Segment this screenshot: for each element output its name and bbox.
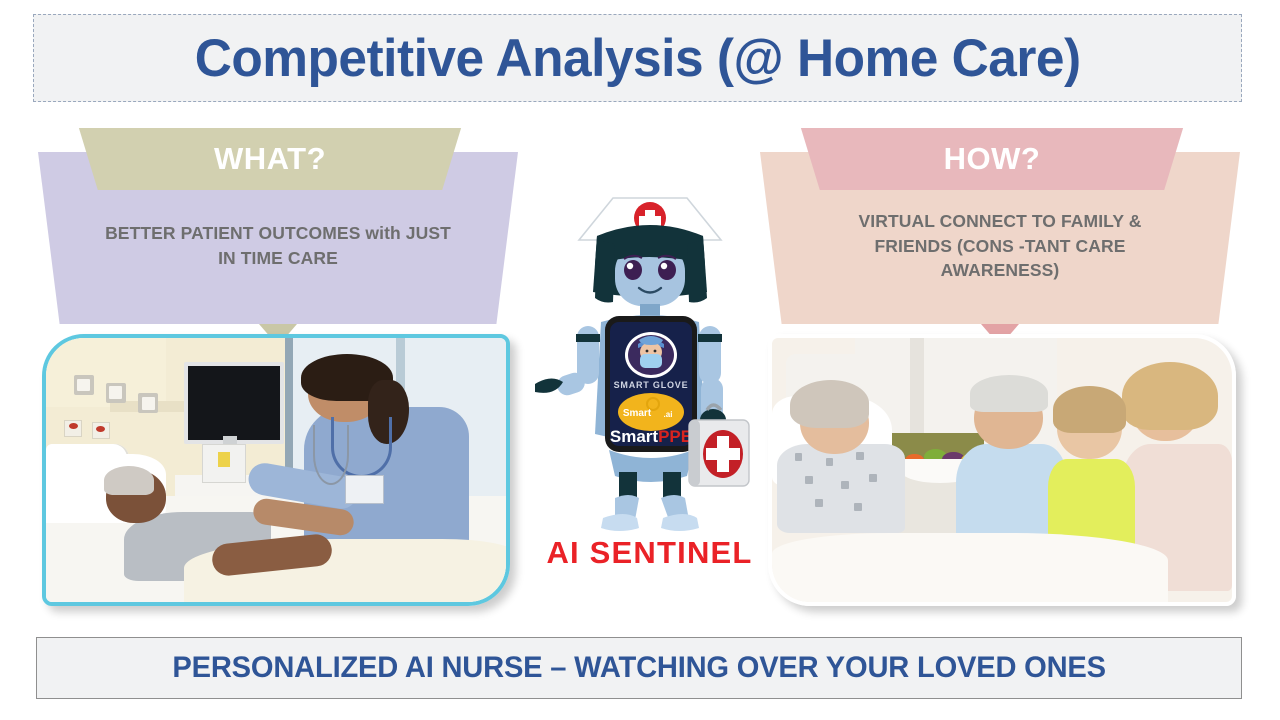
photo-nurse-stethoscope-icon xyxy=(313,425,349,485)
photo-monitor-icon xyxy=(184,362,284,444)
photo-nurse-badge xyxy=(345,475,384,503)
masked-nurse-avatar-icon xyxy=(625,332,677,378)
photo-wall-plate xyxy=(138,393,158,413)
robot-hair-left xyxy=(595,240,615,303)
svg-text:.ai: .ai xyxy=(664,410,673,419)
smart-ai-badge: Smart .ai xyxy=(618,393,684,431)
what-panel-header-text: WHAT? xyxy=(214,141,326,177)
robot-hair-right xyxy=(687,240,707,303)
smart-ppe-label: SmartPPE xyxy=(610,427,692,446)
right-photo-frame xyxy=(768,334,1236,606)
photo-patient-hair xyxy=(104,466,155,495)
robot-chest-screen: SMART GLOVE Smart .ai SmartPPE xyxy=(605,316,697,452)
photo-bed-blanket xyxy=(772,533,1168,602)
robot-right-foot xyxy=(661,514,699,531)
photo-wall-plate xyxy=(74,375,94,395)
photo-woman-hair xyxy=(1122,362,1219,431)
photo-girl-hair xyxy=(1053,386,1127,434)
footer-tagline: PERSONALIZED AI NURSE – WATCHING OVER YO… xyxy=(172,651,1105,685)
svg-text:Smart: Smart xyxy=(623,408,652,419)
photo-man-hair xyxy=(970,375,1048,412)
robot-left-arm xyxy=(535,326,600,398)
page-title: Competitive Analysis (@ Home Care) xyxy=(195,28,1081,89)
left-photo-image xyxy=(46,338,506,602)
photo-socket xyxy=(64,420,82,437)
photo-equipment-indicator xyxy=(218,452,230,468)
photo-elderly-hair xyxy=(790,380,868,428)
right-photo-image xyxy=(772,338,1232,602)
slide-footer-box: PERSONALIZED AI NURSE – WATCHING OVER YO… xyxy=(36,637,1242,699)
robot-right-arm xyxy=(698,326,726,431)
how-panel-header-text: HOW? xyxy=(944,141,1041,177)
what-panel-header: WHAT? xyxy=(60,128,480,190)
robot-left-foot xyxy=(601,514,639,531)
photo-patient-gown xyxy=(777,444,906,534)
ai-sentinel-robot: SMART GLOVE Smart .ai SmartPPE xyxy=(527,188,772,538)
slide-title-box: Competitive Analysis (@ Home Care) xyxy=(33,14,1242,102)
ai-sentinel-label: AI SENTINEL xyxy=(527,535,772,571)
how-panel-header: HOW? xyxy=(782,128,1202,190)
robot-neck xyxy=(640,304,660,316)
photo-socket xyxy=(92,422,110,439)
how-panel-body-text: VIRTUAL CONNECT TO FAMILY & FRIENDS (CON… xyxy=(822,209,1178,284)
how-panel: VIRTUAL CONNECT TO FAMILY & FRIENDS (CON… xyxy=(760,128,1240,348)
photo-wall-plate xyxy=(106,383,126,403)
robot-left-hand xyxy=(535,378,563,392)
what-panel-body-text: BETTER PATIENT OUTCOMES with JUST IN TIM… xyxy=(100,221,456,271)
smart-glove-label: SMART GLOVE xyxy=(614,380,689,390)
what-panel: BETTER PATIENT OUTCOMES with JUST IN TIM… xyxy=(38,128,518,348)
left-photo-frame xyxy=(42,334,510,606)
